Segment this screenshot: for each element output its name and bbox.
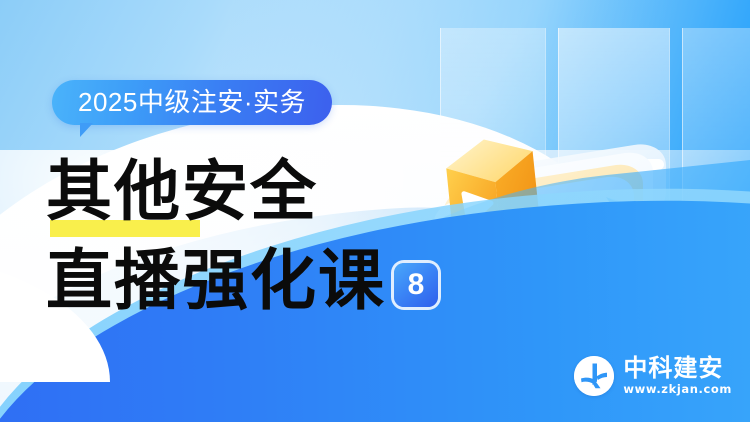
headline-line-1: 其他安全	[46, 152, 318, 230]
headline-line-2-row: 直播强化课 8	[46, 240, 466, 320]
headline-line-1-row: 其他安全	[46, 152, 466, 230]
pill-tail-icon	[80, 123, 93, 137]
paper-sheets	[434, 153, 653, 272]
glass-panel-right	[682, 28, 750, 328]
course-banner: 2025中级注安·实务 其他安全 直播强化课 8 中科建安 www.zkj	[0, 0, 750, 422]
brand-website: www.zkjan.com	[623, 384, 732, 396]
episode-number-badge: 8	[394, 263, 438, 307]
glass-panel-center	[558, 28, 670, 358]
course-category-label: 2025中级注安·实务	[78, 87, 306, 117]
background-top-right-gradient	[0, 0, 750, 150]
course-illustration	[420, 95, 740, 355]
headline-block: 其他安全 直播强化课 8	[46, 152, 466, 320]
glass-panels-group	[440, 28, 750, 358]
headline-line-2: 直播强化课	[46, 241, 386, 319]
brand-name: 中科建安	[623, 356, 732, 380]
folder-back	[472, 144, 666, 241]
brand-logo: 中科建安 www.zkjan.com	[574, 356, 732, 396]
circular-arrow	[428, 197, 720, 313]
paper-peek	[614, 255, 634, 307]
course-category-pill: 2025中级注安·实务	[52, 80, 332, 125]
zkjan-arrow-mark-icon	[574, 356, 614, 396]
course-category-badge: 2025中级注安·实务	[52, 80, 332, 125]
brand-logo-text: 中科建安 www.zkjan.com	[623, 356, 732, 396]
